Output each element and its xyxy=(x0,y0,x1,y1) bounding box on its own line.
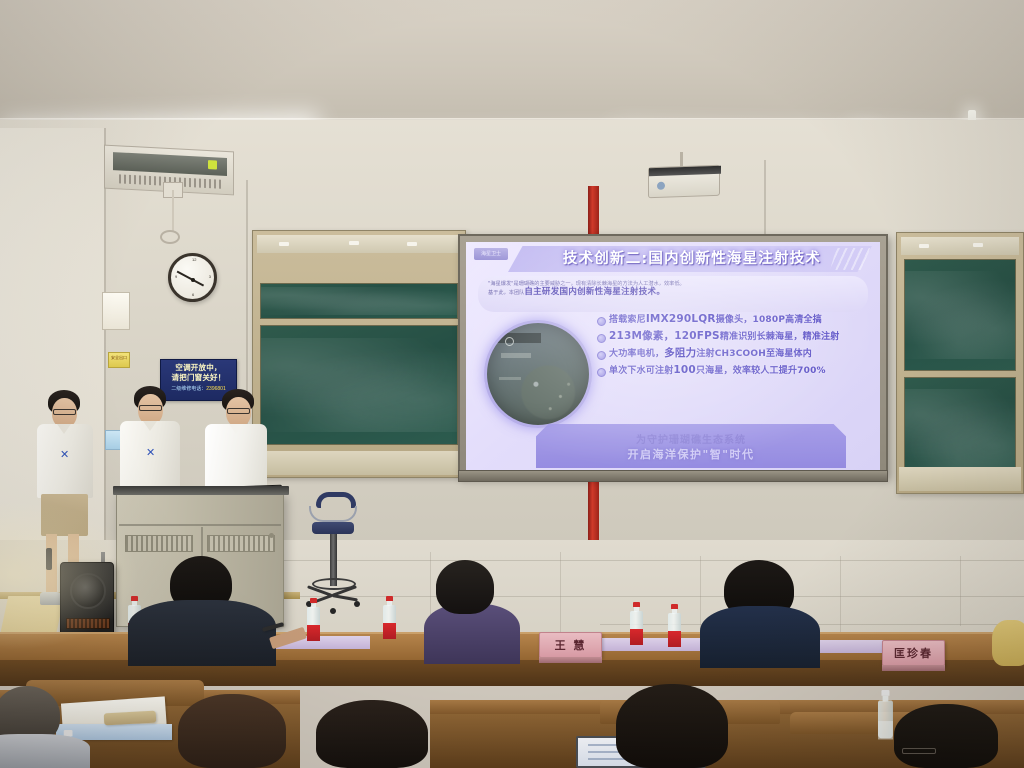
bottle-label xyxy=(668,631,681,647)
projection-screen: 海星卫士 技术创新二:国内创新性海星注射技术 "海星爆发"是珊瑚礁的主要威胁之一… xyxy=(458,234,888,478)
audience-head xyxy=(616,684,728,768)
photo-hud-bar xyxy=(497,333,541,343)
lectern-vent xyxy=(125,535,193,552)
presenter-left-logo: ✕ xyxy=(60,448,69,461)
blackboard-panel-upper xyxy=(260,283,458,319)
audience-shoulder xyxy=(992,620,1024,666)
bottle-label xyxy=(383,623,396,639)
bottle-label xyxy=(630,629,643,645)
wall-seam xyxy=(104,128,106,548)
clock-tick-12: 12 xyxy=(192,258,196,262)
blackboard-top-rail xyxy=(257,235,461,253)
pa-speaker-grille xyxy=(66,618,110,629)
audience-head-wrap xyxy=(436,560,494,614)
lectern-trim xyxy=(119,524,281,526)
ac-notice-line-1: 空调开放中， xyxy=(163,363,234,373)
bullet-1-prefix: 搭载索尼 xyxy=(609,315,646,325)
clock-tick-9: 9 xyxy=(175,275,177,279)
placard-kuang-zhenchun: 匡珍春 xyxy=(882,640,945,666)
bottle-label xyxy=(878,721,893,739)
presenter-center-collar xyxy=(143,421,157,431)
projection-screen-bottom-bar xyxy=(458,470,888,482)
clock-tick-6: 6 xyxy=(192,293,194,297)
lectern-lock-icon[interactable] xyxy=(269,533,274,538)
chalk-ledge xyxy=(899,467,1021,491)
stool-caster xyxy=(330,608,336,614)
ac-notice-line-2: 请把门窗关好！ xyxy=(163,373,234,383)
bullet-3-suffix: 注射CH3COOH至海星体内 xyxy=(696,349,812,359)
bottle-body xyxy=(307,607,320,640)
presenter-left-glasses xyxy=(53,409,76,415)
slide-bullet-3: 大功率电机，多阻力注射CH3COOH至海星体内 xyxy=(596,348,872,360)
photo-hud-text-line xyxy=(501,353,531,358)
placard-name-2: 匡珍春 xyxy=(894,647,933,660)
bottle-label xyxy=(307,625,320,641)
bullet-2-prefix: 213M xyxy=(609,330,642,342)
slide-bullet-4: 单次下水可注射100只海星，效率较人工提升700% xyxy=(596,365,872,377)
audience-torso xyxy=(0,734,90,768)
stool-seat[interactable] xyxy=(312,522,354,534)
blackboard-top-rail xyxy=(901,237,1019,255)
slide-paragraph-bold: 自主研发国内创新性海星注射技术。 xyxy=(524,287,665,297)
bullet-2-suffix: 精准识别长棘海星，精准注射 xyxy=(720,332,840,342)
bullet-4-emphasis: 100 xyxy=(673,364,696,376)
bullet-1-emphasis: IMX290LQR xyxy=(646,313,716,325)
ac-power-cord xyxy=(172,190,174,232)
ac-phone-number: 2396801 xyxy=(206,386,225,392)
slide-bullet-list: 搭载索尼IMX290LQR摄像头，1080P高清全搞 213M像素，120FPS… xyxy=(596,314,872,382)
classroom-scene: 12 3 6 9 安全出口 空调开放中， 请把门窗关好！ 二级维修电话：2396… xyxy=(0,0,1024,768)
floor-tile-line xyxy=(560,552,561,632)
chalk-ledge xyxy=(255,451,463,475)
audience-head xyxy=(894,704,998,768)
ac-phone-label: 二级维修电话： xyxy=(171,386,206,392)
wall-poster xyxy=(102,292,130,330)
presenter-center-logo: ✕ xyxy=(146,446,155,459)
bullet-4-prefix: 单次下水可注射 xyxy=(609,366,673,376)
photo-hud-text-line xyxy=(499,377,521,380)
bullet-2-emphasis: 像素，120FPS xyxy=(642,330,720,342)
presenter-left-shorts xyxy=(41,494,88,536)
exit-sign: 安全出口 xyxy=(108,352,130,368)
audience-torso xyxy=(700,606,820,668)
audience-head xyxy=(316,700,428,768)
lectern-vent xyxy=(207,535,275,552)
presentation-slide: 海星卫士 技术创新二:国内创新性海星注射技术 "海星爆发"是珊瑚礁的主要威胁之一… xyxy=(466,242,880,470)
blackboard-panel-lower xyxy=(260,325,458,445)
ac-status-led-icon xyxy=(208,160,217,169)
floor-tile-line xyxy=(300,596,1024,597)
wall-clock: 12 3 6 9 xyxy=(168,253,217,302)
stool-caster xyxy=(354,601,360,607)
presenter-left-collar xyxy=(57,424,71,434)
projector-lens-icon xyxy=(657,182,665,190)
slide-closing-banner: 为守护珊瑚礁生态系统 开启海洋保护"智"时代 xyxy=(536,424,846,468)
presenter-left-shoe xyxy=(40,592,62,605)
pa-speaker-cone-icon xyxy=(70,573,106,609)
presenter-center-glasses xyxy=(139,405,162,411)
placard-base xyxy=(882,665,945,671)
bullet-4-suffix: 只海星，效率较人工提升700% xyxy=(696,366,826,376)
presenter-right-glasses xyxy=(227,408,250,414)
bullet-3-emphasis: 多阻力 xyxy=(664,347,696,359)
placard-base xyxy=(539,657,602,663)
photo-hud-reticle-icon xyxy=(505,337,514,346)
projector-top-panel xyxy=(649,166,721,177)
audience-glasses xyxy=(902,748,936,754)
ceiling xyxy=(0,0,1024,128)
audience-head xyxy=(178,694,286,768)
slide-logo: 海星卫士 xyxy=(474,248,508,260)
floor-tile-line xyxy=(280,560,1024,561)
stool-armrest xyxy=(309,506,357,522)
chalk-piece xyxy=(279,242,289,246)
bottle-body xyxy=(668,613,681,646)
blackboard-left xyxy=(252,230,466,478)
slide-bullet-2: 213M像素，120FPS精准识别长棘海星，精准注射 xyxy=(596,331,872,343)
ac-notice-phone: 二级维修电话：2396801 xyxy=(163,385,234,393)
ceiling-projector xyxy=(648,165,720,199)
audience-torso xyxy=(128,600,276,666)
slide-banner-line-2: 开启海洋保护"智"时代 xyxy=(536,446,846,462)
clock-center-pin xyxy=(191,278,195,282)
slide-bullet-1: 搭载索尼IMX290LQR摄像头，1080P高清全搞 xyxy=(596,314,872,326)
slide-intro-paragraph: "海星爆发"是珊瑚礁的主要威胁之一，现有清除长棘海星的方法为人工潜水，效率低。 … xyxy=(478,276,868,312)
slide-paragraph-prefix: 基于此，本团队 xyxy=(488,290,524,296)
bullet-3-prefix: 大功率电机， xyxy=(609,349,664,359)
placard-wang-hui: 王 慧 xyxy=(539,632,602,658)
blackboard-right xyxy=(896,232,1024,494)
bottle-body xyxy=(630,611,643,644)
slide-banner-line-1: 为守护珊瑚礁生态系统 xyxy=(536,431,846,446)
pa-speaker-handle[interactable] xyxy=(46,548,52,570)
ac-cord-loop xyxy=(160,230,180,244)
table-cloth xyxy=(588,638,708,651)
slide-paragraph-line-2: 基于此，本团队自主研发国内创新性海星注射技术。 xyxy=(488,288,858,298)
lectern-top-surface xyxy=(113,486,289,495)
bullet-1-suffix: 摄像头，1080P高清全搞 xyxy=(716,315,822,325)
slide-title: 技术创新二:国内创新性海星注射技术 xyxy=(522,248,862,270)
chalk-piece xyxy=(919,244,929,248)
floor-tile-line xyxy=(840,556,841,632)
chalk-piece xyxy=(349,241,359,245)
clock-tick-3: 3 xyxy=(209,275,211,279)
chalk-piece xyxy=(407,242,417,246)
blackboard-panel-upper xyxy=(904,259,1016,371)
placard-name-1: 王 慧 xyxy=(555,639,587,652)
presenter-right-collar xyxy=(229,424,243,434)
floor-tile-line xyxy=(700,556,701,632)
presenter-left-jacket xyxy=(37,424,93,498)
bottle-body xyxy=(383,605,396,638)
slide-underwater-photo xyxy=(484,320,592,428)
bottle-body xyxy=(878,700,893,738)
floor-tile-line xyxy=(960,556,961,626)
chalk-piece xyxy=(973,243,983,247)
